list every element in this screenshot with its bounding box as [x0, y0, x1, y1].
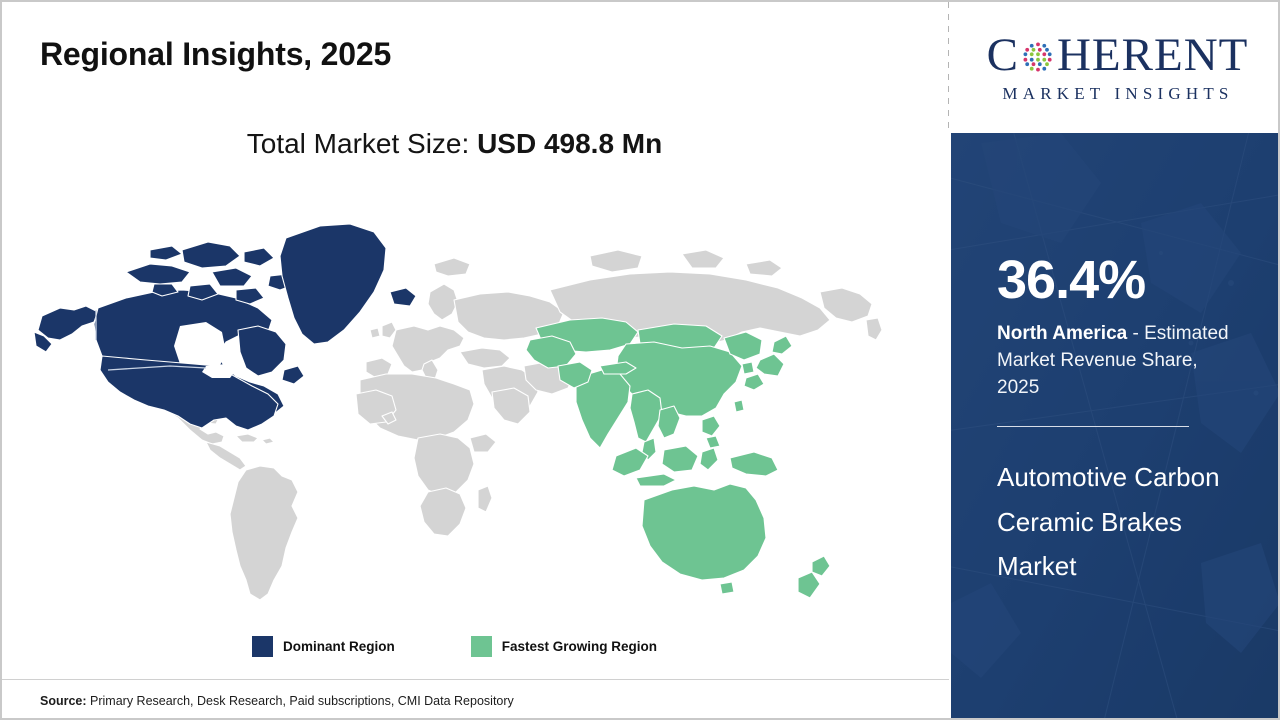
infographic-root: Regional Insights, 2025 Total Market Siz… — [0, 0, 1280, 720]
globe-icon — [1020, 37, 1056, 73]
source-line: Source: Primary Research, Desk Research,… — [40, 694, 514, 708]
logo-wordmark: C — [987, 32, 1249, 79]
left-panel: Regional Insights, 2025 Total Market Siz… — [2, 2, 949, 718]
stat-caption: North America - Estimated Market Revenue… — [997, 321, 1234, 402]
legend-label-fastest: Fastest Growing Region — [502, 639, 657, 654]
logo-letters-herent: HERENT — [1057, 32, 1248, 79]
map-legend: Dominant Region Fastest Growing Region — [2, 636, 907, 657]
panel-content: 36.4% North America - Estimated Market R… — [951, 253, 1280, 589]
right-info-panel: 36.4% North America - Estimated Market R… — [951, 133, 1280, 718]
source-divider — [2, 679, 949, 680]
legend-item-dominant: Dominant Region — [252, 636, 395, 657]
source-label: Source: — [40, 694, 87, 708]
map-region-fastest — [526, 318, 830, 598]
legend-label-dominant: Dominant Region — [283, 639, 395, 654]
legend-swatch-fastest — [471, 636, 492, 657]
market-size-line: Total Market Size: USD 498.8 Mn — [2, 128, 907, 160]
market-size-label: Total Market Size: — [247, 128, 477, 159]
vertical-dashed-divider — [948, 2, 949, 133]
source-text: Primary Research, Desk Research, Paid su… — [87, 694, 514, 708]
world-map-container — [30, 180, 920, 628]
stat-value: 36.4% — [997, 253, 1234, 307]
market-size-value: USD 498.8 Mn — [477, 128, 662, 159]
logo-letter-c: C — [987, 32, 1019, 79]
stat-region: North America — [997, 323, 1127, 344]
world-map-svg — [30, 180, 920, 628]
page-title: Regional Insights, 2025 — [40, 36, 391, 73]
logo-tagline: MARKET INSIGHTS — [1002, 84, 1233, 104]
report-title: Automotive Carbon Ceramic Brakes Market — [997, 455, 1234, 589]
legend-swatch-dominant — [252, 636, 273, 657]
brand-logo: C — [951, 2, 1280, 133]
legend-item-fastest: Fastest Growing Region — [471, 636, 657, 657]
panel-divider — [997, 426, 1189, 427]
